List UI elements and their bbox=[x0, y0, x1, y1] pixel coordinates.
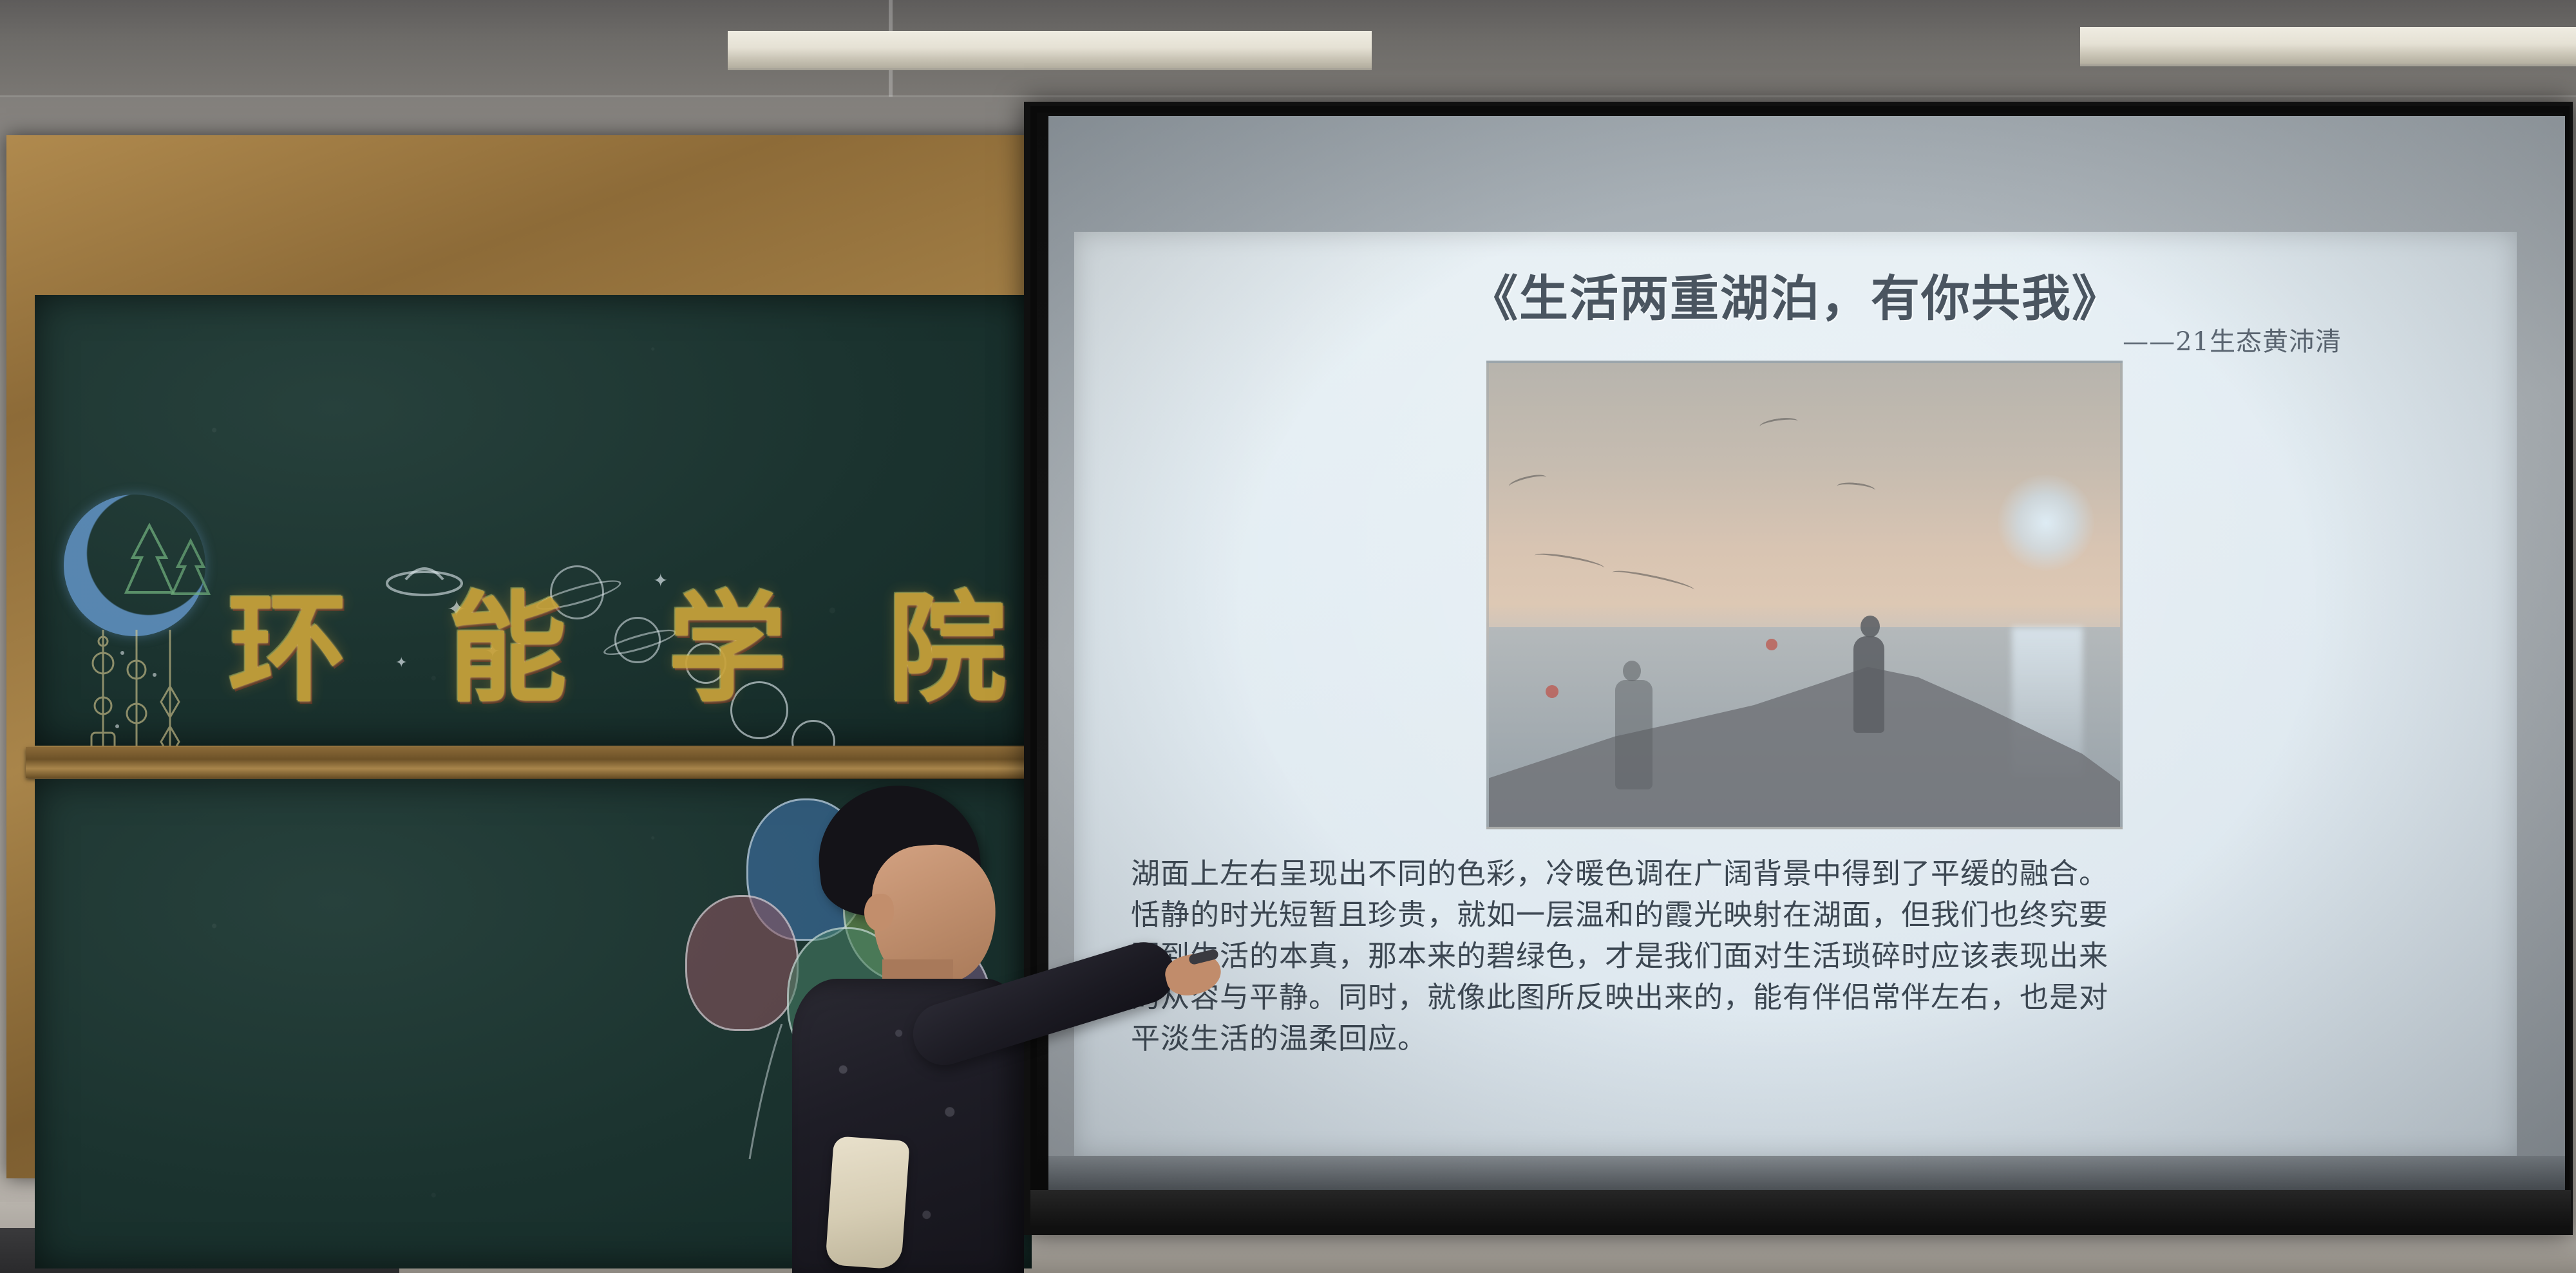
bird-icon bbox=[1533, 551, 1605, 574]
projection-screen-surface: 《生活两重湖泊，有你共我》 ——21生态黄沛清 bbox=[1048, 116, 2565, 1204]
classroom-scene: ✦ ✦ ✦ ✦ bbox=[0, 0, 2576, 1273]
bird-icon bbox=[1759, 416, 1799, 432]
slide-body-line: 恬静的时光短暂且珍贵，就如一层温和的霞光映射在湖面，但我们也终究要 bbox=[1131, 894, 2472, 936]
board-top-title: 环 能 学 院 bbox=[228, 552, 1032, 725]
presenter-sleeve-patch bbox=[825, 1136, 910, 1270]
slide-body-text: 湖面上左右呈现出不同的色彩，冷暖色调在广阔背景中得到了平缓的融合。 恬静的时光短… bbox=[1131, 853, 2472, 1059]
slide-body-line: 回到生活的本真，那本来的碧绿色，才是我们面对生活琐碎时应该表现出来 bbox=[1131, 936, 2472, 977]
blackboard-divider bbox=[26, 747, 1043, 778]
photo-figure-head bbox=[1861, 616, 1880, 637]
presenter-ear bbox=[864, 894, 894, 931]
curtain-valance-right bbox=[2080, 27, 2576, 66]
slide-byline: ——21生态黄沛清 bbox=[2123, 321, 2342, 358]
pine-trees-icon bbox=[111, 522, 220, 612]
slide-body-line: 的从容与平静。同时，就像此图所反映出来的，能有伴侣常伴左右，也是对 bbox=[1131, 977, 2472, 1018]
photo-figure2-body bbox=[1615, 680, 1653, 789]
curtain-valance-left bbox=[728, 31, 1372, 70]
photo-figure2-head bbox=[1623, 661, 1641, 681]
buoy-icon bbox=[1546, 685, 1558, 698]
bird-icon bbox=[1611, 567, 1696, 596]
presentation-slide: 《生活两重湖泊，有你共我》 ——21生态黄沛清 bbox=[1074, 232, 2517, 1156]
dreamcatcher-icon bbox=[72, 630, 207, 746]
bird-icon bbox=[1508, 472, 1548, 492]
sunset-seascape-photo bbox=[1486, 361, 2123, 829]
bird-icon bbox=[1836, 481, 1875, 496]
slide-body-line: 湖面上左右呈现出不同的色彩，冷暖色调在广阔背景中得到了平缓的融合。 bbox=[1131, 853, 2472, 894]
slide-body-line: 平淡生活的温柔回应。 bbox=[1131, 1018, 2472, 1059]
sun-glare-icon bbox=[1998, 475, 2094, 571]
presenter bbox=[721, 786, 1159, 1273]
wall-seam bbox=[0, 95, 2576, 97]
slide-title: 《生活两重湖泊，有你共我》 bbox=[1074, 259, 2517, 330]
screen-bottom-bar bbox=[1030, 1190, 2571, 1227]
photo-figure-body bbox=[1853, 636, 1884, 733]
buoy-icon bbox=[1766, 639, 1777, 650]
blackboard-upper-panel: ✦ ✦ ✦ ✦ bbox=[35, 295, 1032, 746]
